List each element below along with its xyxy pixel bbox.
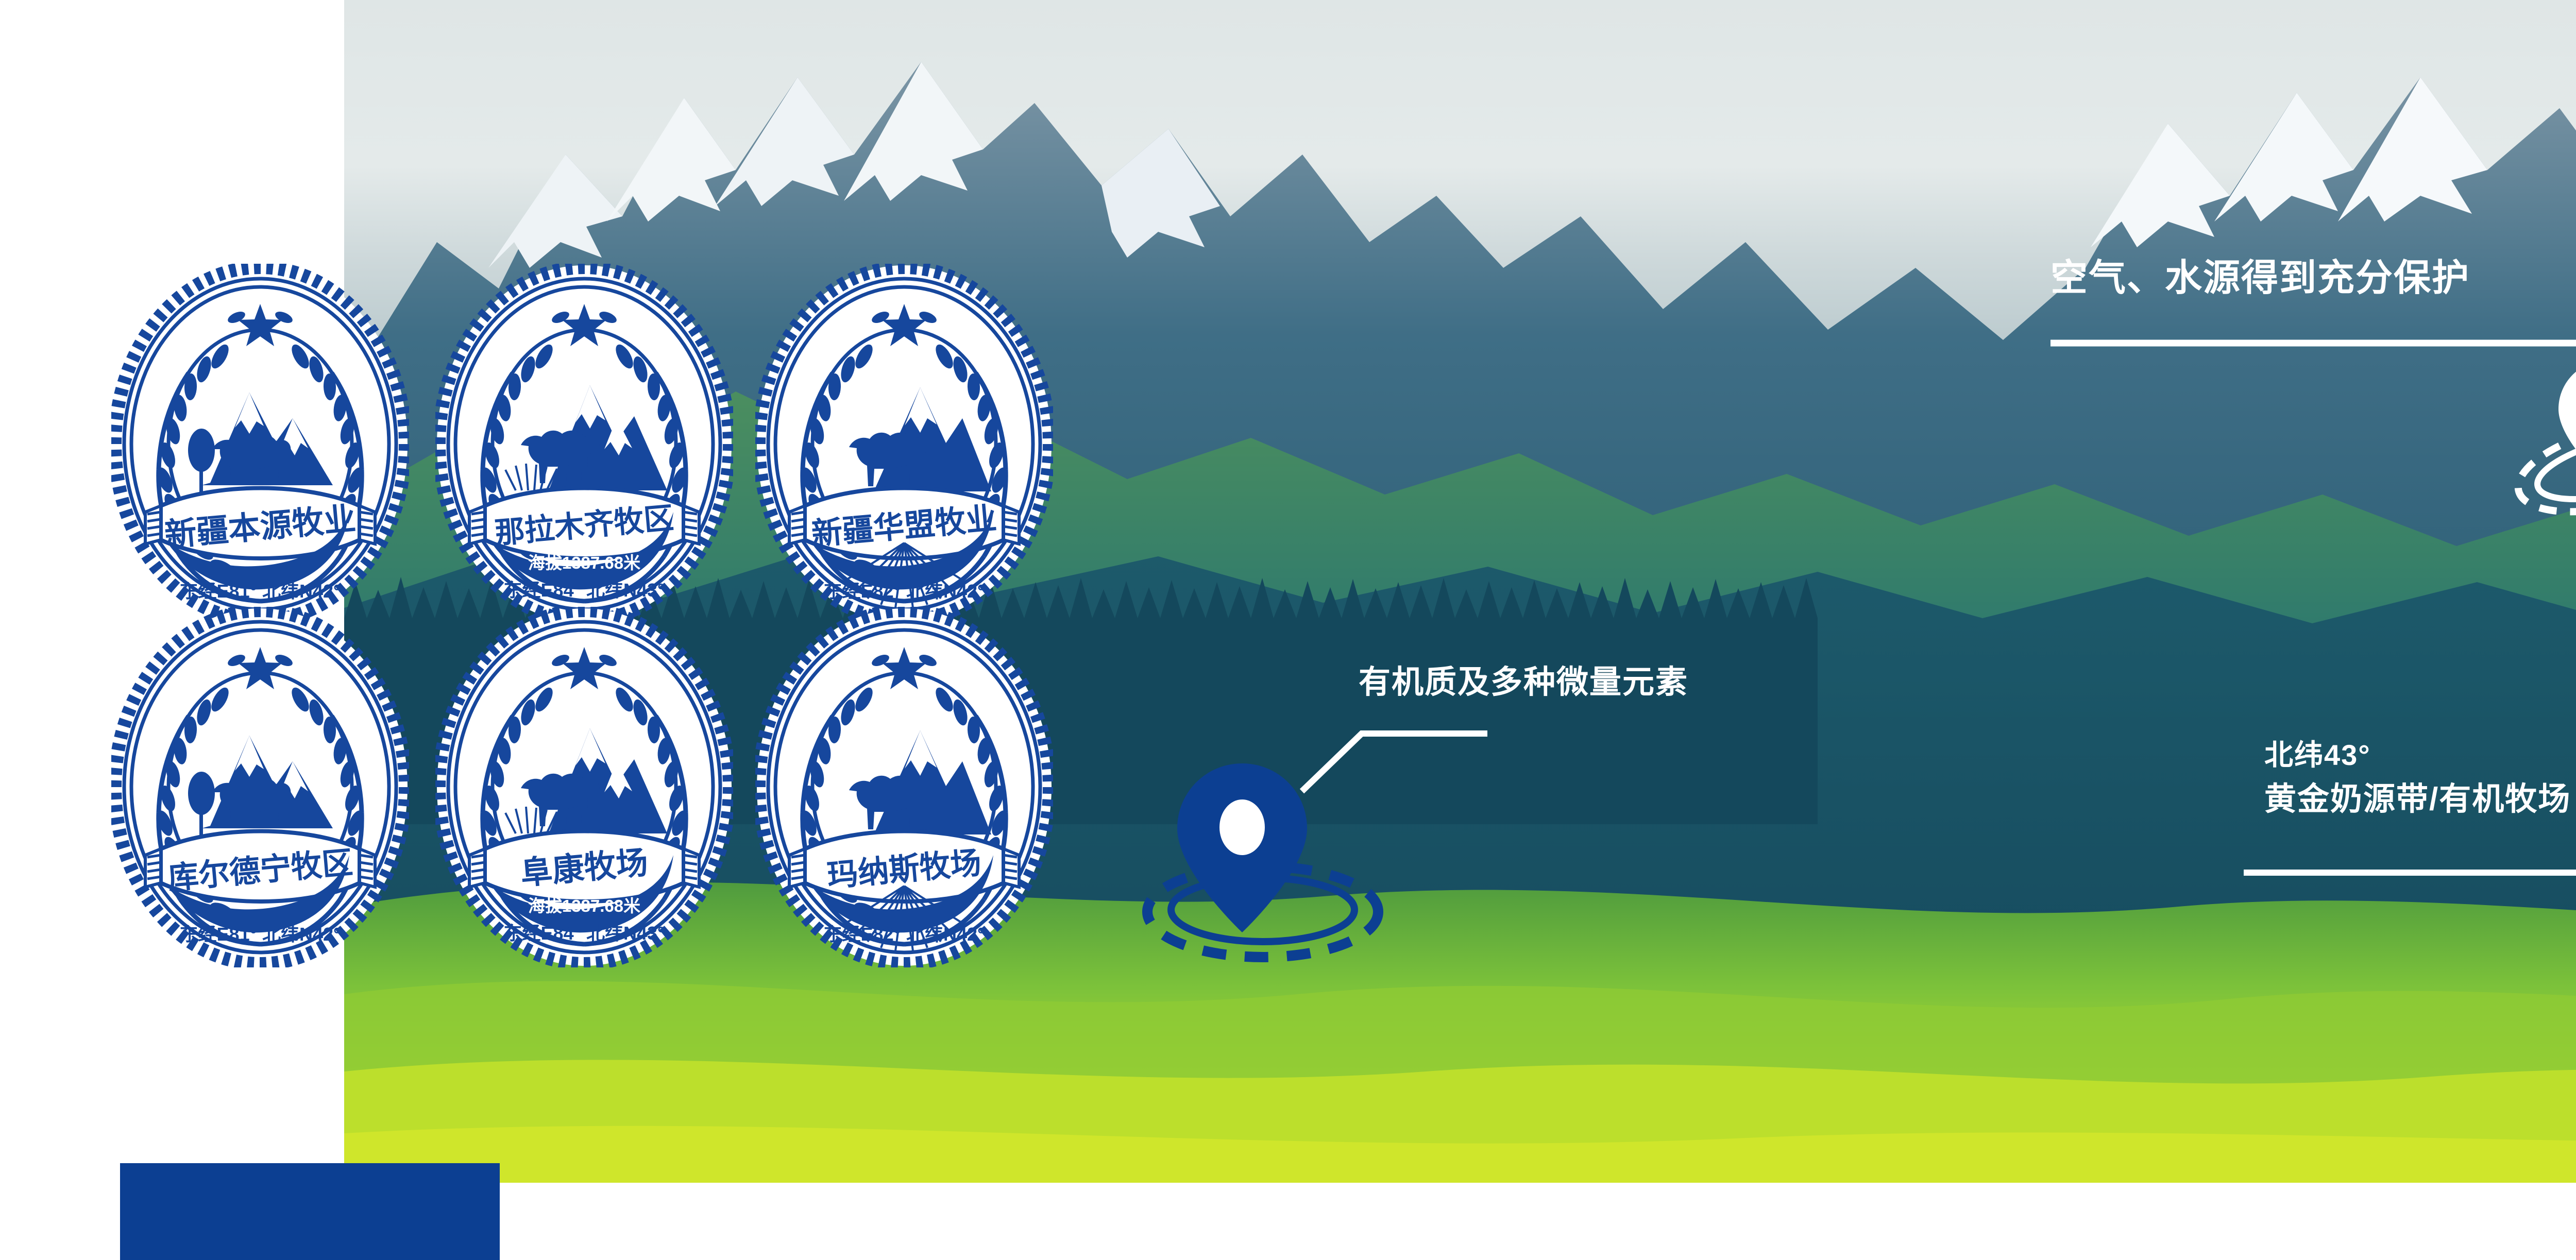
callout-air-water-leader: [2050, 334, 2576, 468]
bottom-blue-bar: [120, 1163, 500, 1260]
location-pin-icon: [1141, 762, 1388, 979]
badge-coords: 东经E82° 北纬N42°: [824, 924, 985, 945]
badge-coords: 东经E81° 北纬N42°: [180, 581, 341, 602]
badge-altitude: 海拔1387.68米: [528, 896, 640, 915]
farm-badge-graphic: 库尔德宁牧区 东经E81° 北纬N42°: [111, 607, 409, 967]
farm-badge[interactable]: 玛纳斯牧场 东经E82° 北纬N42°: [755, 607, 1053, 967]
farm-badge[interactable]: 新疆本源牧业 东经E81° 北纬N42°: [111, 264, 409, 624]
poster-canvas: 新疆本源牧业 东经E81° 北纬N42°: [0, 0, 2576, 1260]
badge-coords: 东经E84° 北纬N43°: [504, 580, 665, 601]
farm-badge-graphic: 那拉木齐牧区 海拔1387.68米 东经E84° 北纬N43°: [435, 264, 733, 624]
farm-badge[interactable]: 那拉木齐牧区 海拔1387.68米 东经E84° 北纬N43°: [435, 264, 733, 624]
farm-badge[interactable]: 库尔德宁牧区 东经E81° 北纬N42°: [111, 607, 409, 967]
badge-coords: 东经E82° 北纬N42°: [824, 581, 985, 602]
callout-latitude-line2: 黄金奶源带/有机牧场: [2264, 781, 2571, 817]
farm-badge-graphic: 玛纳斯牧场 东经E82° 北纬N42°: [755, 607, 1053, 967]
callout-organic-matter: 有机质及多种微量元素: [1359, 665, 1925, 819]
farm-badge[interactable]: 阜康牧场 海拔1387.68米 东经E84° 北纬N43°: [435, 607, 733, 967]
location-pin-icon: [2499, 340, 2576, 536]
callout-organic-matter-text: 有机质及多种微量元素: [1359, 665, 1688, 700]
badge-coords: 东经E81° 北纬N42°: [180, 924, 341, 945]
location-pin-white[interactable]: [2499, 340, 2576, 536]
badge-altitude: 海拔1387.68米: [528, 553, 640, 572]
farm-badge-graphic: 新疆本源牧业 东经E81° 北纬N42°: [111, 264, 409, 624]
callout-air-water-text: 空气、水源得到充分保护: [2050, 258, 2470, 299]
farm-badge[interactable]: 新疆华盟牧业 东经E82° 北纬N42°: [755, 264, 1053, 624]
callout-latitude-line1: 北纬43°: [2264, 739, 2371, 772]
callout-latitude: 北纬43° 黄金奶源带/有机牧场: [2264, 739, 2576, 966]
farm-badge-graphic: 新疆华盟牧业 东经E82° 北纬N42°: [755, 264, 1053, 624]
badge-coords: 东经E84° 北纬N43°: [504, 923, 665, 944]
farm-badge-graphic: 阜康牧场 海拔1387.68米 东经E84° 北纬N43°: [435, 607, 733, 967]
callout-latitude-leader: [2244, 864, 2576, 967]
location-pin-blue-left[interactable]: [1141, 762, 1388, 979]
callout-air-water: 空气、水源得到充分保护: [2050, 258, 2576, 525]
